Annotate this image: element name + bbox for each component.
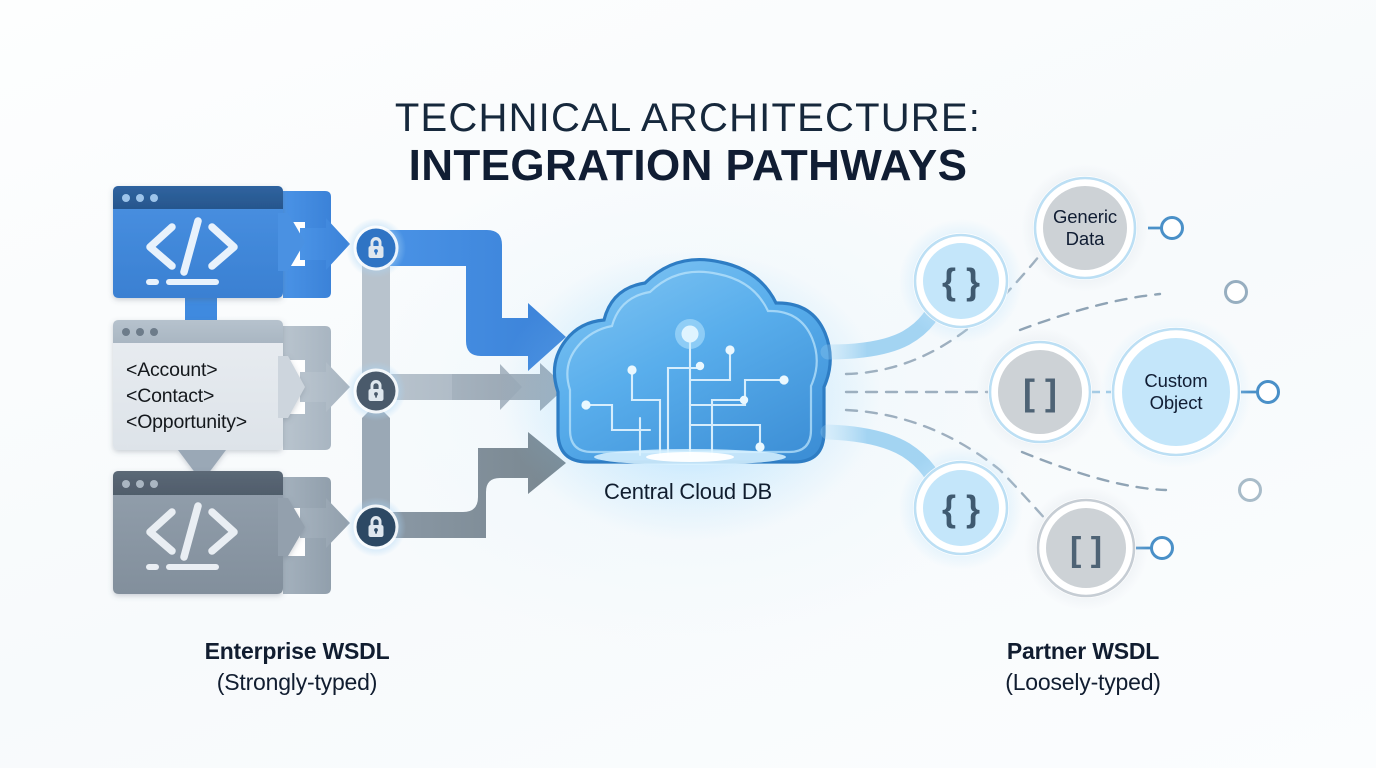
schema-line-3: <Opportunity> — [126, 410, 247, 436]
diagram-canvas: { } [ ] { } — [0, 0, 1376, 768]
array-brackets-icon: [ ] — [1070, 531, 1102, 569]
partner-wsdl-subtitle: (Loosely-typed) — [903, 669, 1263, 696]
lock-bottom[interactable] — [346, 497, 406, 557]
title-line-2: INTEGRATION PATHWAYS — [0, 141, 1376, 191]
title-line-1: TECHNICAL ARCHITECTURE: — [0, 96, 1376, 141]
json-node-bottom[interactable]: { } — [899, 446, 1023, 570]
endpoint-ring-3[interactable] — [1258, 382, 1279, 403]
endpoint-ring-2[interactable] — [1226, 282, 1247, 303]
custom-object-label-line1: Custom — [1116, 370, 1236, 392]
generic-data-label: Generic Data — [1025, 206, 1145, 250]
lock-middle[interactable] — [346, 361, 406, 421]
custom-object-label-line2: Object — [1116, 392, 1236, 414]
array-brackets-icon: [ ] — [1023, 372, 1057, 413]
cloud-caption: Central Cloud DB — [0, 479, 1376, 505]
endpoint-ring-1[interactable] — [1162, 218, 1183, 239]
code-window-blue[interactable] — [113, 186, 306, 298]
schema-line-1: <Account> — [126, 358, 217, 384]
partner-wsdl-label: Partner WSDL (Loosely-typed) — [903, 638, 1263, 696]
enterprise-wsdl-title: Enterprise WSDL — [117, 638, 477, 665]
partner-wsdl-title: Partner WSDL — [903, 638, 1263, 665]
array-node-middle[interactable]: [ ] — [976, 328, 1104, 456]
endpoint-ring-5[interactable] — [1152, 538, 1173, 559]
lock-top[interactable] — [346, 218, 406, 278]
schema-line-2: <Contact> — [126, 384, 214, 410]
generic-data-label-line2: Data — [1025, 228, 1145, 250]
enterprise-wsdl-subtitle: (Strongly-typed) — [117, 669, 477, 696]
json-node-top[interactable]: { } — [899, 219, 1023, 343]
enterprise-wsdl-label: Enterprise WSDL (Strongly-typed) — [117, 638, 477, 696]
custom-object-label: Custom Object — [1116, 370, 1236, 414]
json-braces-icon: { } — [942, 261, 980, 302]
generic-data-label-line1: Generic — [1025, 206, 1145, 228]
